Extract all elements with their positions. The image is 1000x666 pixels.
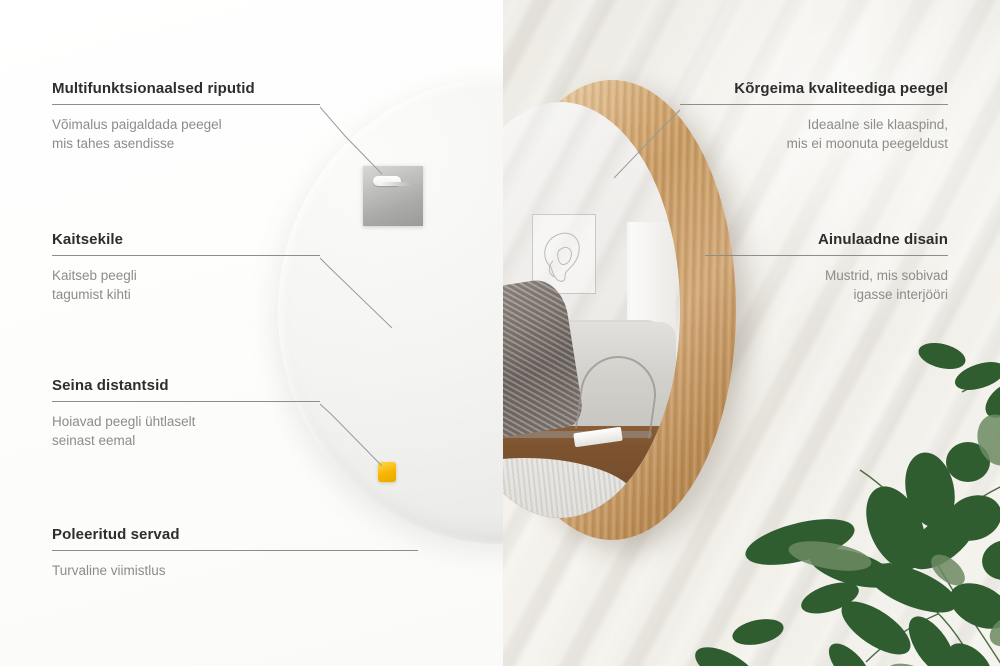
mirror-glass-surface [500, 102, 680, 518]
callout-hangers: Multifunktsionaalsed riputid Võimalus pa… [52, 80, 320, 153]
plant-branches [680, 330, 1000, 666]
yellow-wall-spacer [378, 462, 396, 482]
callout-title: Multifunktsionaalsed riputid [52, 80, 320, 97]
plant-leaves [689, 339, 1000, 666]
callout-title: Seina distantsid [52, 377, 320, 394]
callout-quality-mirror: Kõrgeima kvaliteediga peegel Ideaalne si… [680, 80, 948, 153]
callout-rule [705, 255, 948, 256]
callout-desc: Turvaline viimistlus [52, 561, 418, 580]
callout-rule [52, 401, 320, 402]
callout-desc: Kaitseb peegli tagumist kihti [52, 266, 320, 304]
callout-rule [52, 104, 320, 105]
line-art-face-icon [533, 215, 593, 291]
callout-desc: Hoiavad peegli ühtlaselt seinast eemal [52, 412, 320, 450]
callout-wall-spacers: Seina distantsid Hoiavad peegli ühtlasel… [52, 377, 320, 450]
callout-title: Kõrgeima kvaliteediga peegel [680, 80, 948, 97]
callout-title: Poleeritud servad [52, 526, 418, 543]
callout-polished-edges: Poleeritud servad Turvaline viimistlus [52, 526, 418, 580]
hanger-groove [381, 182, 413, 186]
callout-rule [52, 550, 418, 551]
callout-rule [680, 104, 948, 105]
callout-desc: Võimalus paigaldada peegel mis tahes ase… [52, 115, 320, 153]
callout-desc: Ideaalne sile klaaspind, mis ei moonuta … [680, 115, 948, 153]
callout-title: Kaitsekile [52, 231, 320, 248]
product-infographic: Multifunktsionaalsed riputid Võimalus pa… [0, 0, 1000, 666]
callout-title: Ainulaadne disain [705, 231, 948, 248]
callout-protective-film: Kaitsekile Kaitseb peegli tagumist kihti [52, 231, 320, 304]
callout-unique-design: Ainulaadne disain Mustrid, mis sobivad i… [705, 231, 948, 304]
hanger-plate [363, 166, 423, 226]
callout-rule [52, 255, 320, 256]
callout-desc: Mustrid, mis sobivad igasse interjööri [705, 266, 948, 304]
